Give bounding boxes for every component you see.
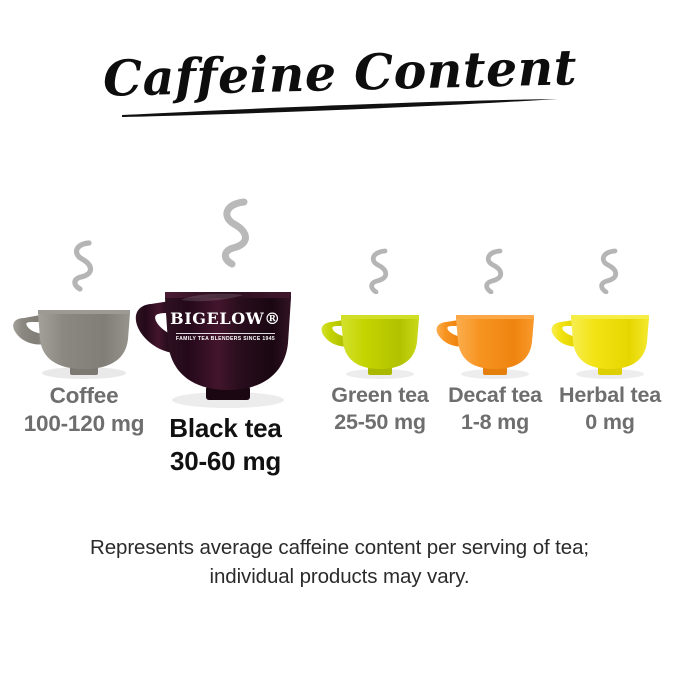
page-title: Caffeine Content: [102, 38, 577, 108]
footnote-caption: Represents average caffeine content per …: [0, 533, 679, 591]
cup-comparison-row: Coffee 100-120 mg: [0, 196, 679, 496]
cup-label-name: Herbal tea: [548, 382, 672, 409]
page-title-block: Caffeine Content: [0, 44, 679, 120]
cup-graphic-decaf-tea: [433, 288, 557, 380]
cup-label-amount: 1-8 mg: [433, 409, 557, 436]
cup-item-black-tea: BIGELOW® FAMILY TEA BLENDERS SINCE 1945 …: [133, 196, 318, 478]
caption-line-1: Represents average caffeine content per …: [0, 533, 679, 562]
cup-item-green-tea: Green tea 25-50 mg: [318, 248, 442, 436]
cup-graphic-black-tea: [133, 246, 318, 410]
cup-item-decaf-tea: Decaf tea 1-8 mg: [433, 248, 557, 436]
cup-label-amount: 0 mg: [548, 409, 672, 436]
cup-label-amount: 25-50 mg: [318, 409, 442, 436]
cup-label-name: Green tea: [318, 382, 442, 409]
cup-label-name: Black tea: [133, 412, 318, 445]
cup-graphic-herbal-tea: [548, 288, 672, 380]
caption-line-2: individual products may vary.: [0, 562, 679, 591]
cup-label-amount: 30-60 mg: [133, 445, 318, 478]
cup-graphic-green-tea: [318, 288, 442, 380]
cup-item-herbal-tea: Herbal tea 0 mg: [548, 248, 672, 436]
cup-label-name: Decaf tea: [433, 382, 557, 409]
